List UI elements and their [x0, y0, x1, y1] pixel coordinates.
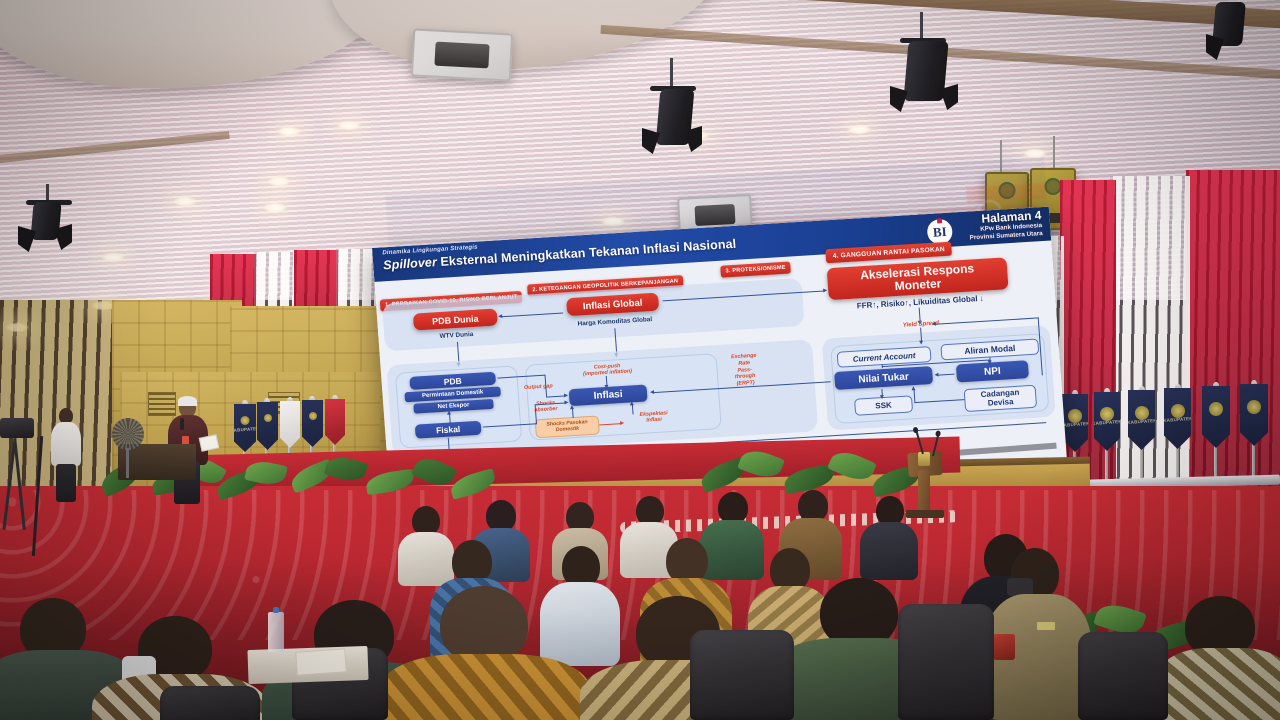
cadangan-line-2: Devisa	[987, 398, 1013, 408]
erpt-line-2: Rate	[738, 360, 750, 367]
arrowhead-down	[919, 341, 923, 345]
ceiling-downlight	[336, 120, 362, 131]
arrow-akselerasi-down	[919, 308, 921, 322]
officer-chest-badge	[1037, 622, 1055, 630]
arrowhead-left	[932, 321, 936, 325]
arrow-ca-down	[882, 364, 883, 368]
podium-emblem	[918, 452, 930, 466]
flag-label: KABUPATEN	[1163, 416, 1193, 423]
arrowhead-down	[879, 395, 883, 399]
curtain-red-far-right	[1186, 170, 1280, 500]
flag-emblem-icon	[1135, 406, 1149, 420]
notepad	[295, 648, 347, 675]
stand-fan-pole	[126, 448, 129, 478]
air-conditioner-unit	[411, 28, 513, 81]
node-cadangan-devisa: Cadangan Devisa	[964, 385, 1038, 412]
audience-police-officer	[985, 548, 1093, 720]
speaker-cone-icon	[1045, 178, 1062, 195]
arrowhead-left	[498, 314, 502, 318]
ceiling-downlight	[266, 176, 292, 187]
presenter-hair	[178, 396, 197, 406]
ekspektasi-line-2: Inflasi	[646, 417, 662, 424]
audience-member	[860, 496, 920, 578]
ceiling-downlight	[846, 124, 872, 135]
arrowhead-up	[629, 401, 633, 405]
audience-chair	[1078, 632, 1168, 720]
officer-shoulder-insignia	[993, 634, 1015, 660]
shocks-absorber-line-2: absorber	[534, 406, 557, 413]
arrowhead-right-red	[620, 420, 624, 424]
ceiling-downlight	[100, 252, 126, 263]
arrowhead-up	[446, 411, 450, 415]
stand-fan	[112, 418, 144, 450]
audience-chair	[898, 604, 994, 720]
fan-cage-icon	[112, 418, 144, 450]
presenter-microphone	[180, 418, 184, 430]
arrowhead-right	[823, 288, 827, 292]
flag-label: KABUPATEN	[1092, 419, 1122, 426]
camera-body	[0, 418, 34, 438]
flag-emblem-icon	[309, 412, 317, 420]
water-bottle	[268, 612, 284, 652]
audience-chair	[160, 686, 260, 720]
arrowhead-up	[911, 386, 915, 390]
arrowhead-down	[604, 385, 608, 389]
shocks-pasokan-line-2: Domestik	[556, 426, 580, 433]
node-shocks-pasokan-domestik: Shocks Pasokan Domestik	[535, 415, 600, 438]
arrowhead-right	[564, 400, 568, 404]
erpt-line-1: Exchange	[731, 353, 757, 361]
bi-logo-text: BI	[932, 223, 947, 240]
assistant-body	[51, 422, 81, 466]
flag-label: KABUPATEN	[1127, 418, 1157, 425]
akselerasi-line-2: Moneter	[894, 277, 941, 292]
arrowhead-left	[934, 372, 938, 376]
arrowhead-right	[564, 393, 568, 397]
audience-member-front	[1155, 596, 1280, 720]
flag-emblem-icon	[241, 416, 250, 425]
audience-chair	[690, 630, 794, 720]
tripod-leg-2	[13, 438, 26, 530]
arrowhead-up	[569, 405, 573, 409]
audience-member-front	[380, 586, 590, 720]
flag-emblem-icon	[264, 414, 272, 422]
flag-emblem-icon	[1247, 400, 1261, 414]
ceiling-downlight	[276, 126, 302, 137]
ceiling-downlight	[172, 196, 198, 207]
assistant-legs	[56, 464, 76, 502]
photo-scene: Meningkatkan Tekanan Inflasi Nasional Ha…	[0, 0, 1280, 720]
arrowhead-down	[987, 360, 991, 364]
arrowhead-left	[650, 390, 654, 394]
flag-label: KABUPATEN	[230, 426, 260, 433]
flag-emblem-icon	[1209, 402, 1223, 416]
anno-erpt: Exchange Rate Pass- through (ERPT)	[721, 352, 769, 388]
ceiling-downlight	[262, 202, 288, 213]
slide-tag-3: 3. PROTEKSIONISME	[720, 261, 791, 277]
person-assistant-stage	[48, 408, 84, 496]
speaker-hanger-wire	[1053, 136, 1055, 170]
